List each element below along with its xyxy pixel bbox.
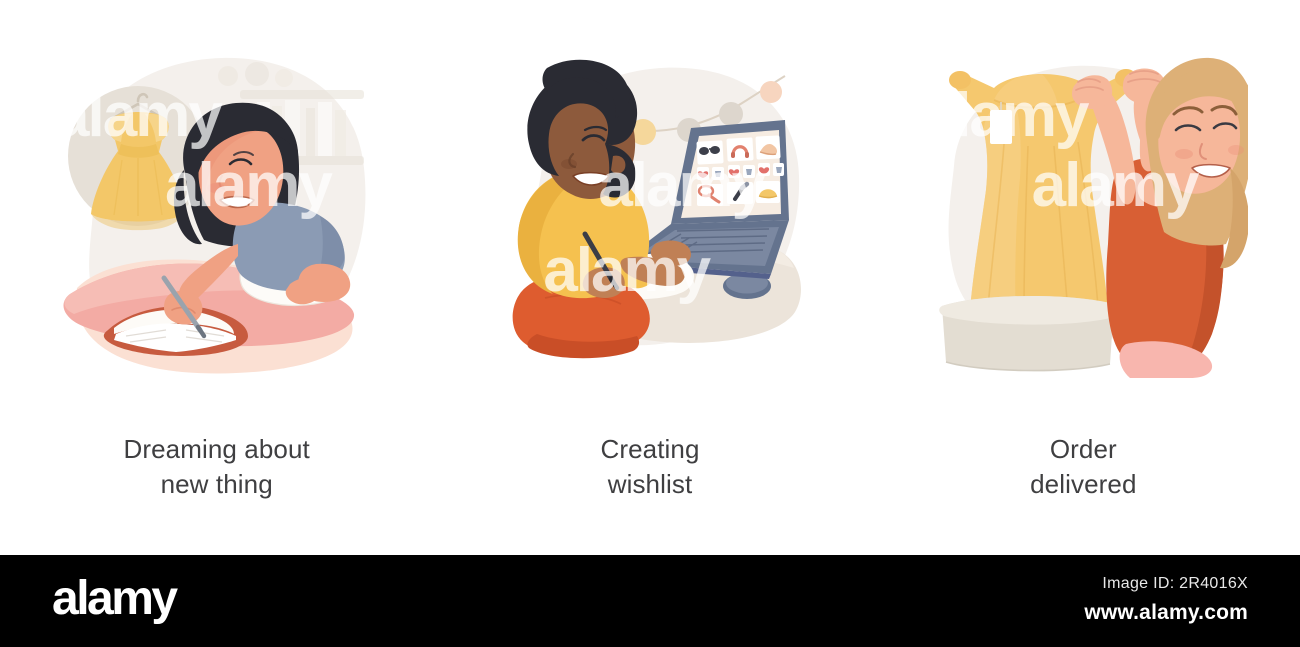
- image-id-label: Image ID: 2R4016X: [948, 575, 1248, 593]
- alamy-logo[interactable]: alamy: [52, 573, 176, 625]
- illustration-delivered: [918, 48, 1248, 378]
- panel-wishlist[interactable]: alamy alamy Creating wishlist: [433, 0, 866, 530]
- illustration-sheet: alamy alamy Dreaming about new thing: [0, 0, 1300, 647]
- website-label[interactable]: www.alamy.com: [948, 601, 1248, 625]
- caption-delivered: Order delivered: [867, 432, 1300, 502]
- panels-row: alamy alamy Dreaming about new thing: [0, 0, 1300, 530]
- illustration-dreaming: [52, 48, 382, 378]
- caption-wishlist: Creating wishlist: [433, 432, 866, 502]
- caption-dreaming: Dreaming about new thing: [0, 432, 433, 502]
- illustration-wishlist: [485, 48, 815, 378]
- product-headphones: [726, 137, 753, 161]
- panel-dreaming[interactable]: alamy alamy Dreaming about new thing: [0, 0, 433, 530]
- alamy-footer-bar: alamy Image ID: 2R4016X www.alamy.com: [0, 555, 1300, 647]
- panel-delivered[interactable]: alamy alamy Order delivered: [867, 0, 1300, 530]
